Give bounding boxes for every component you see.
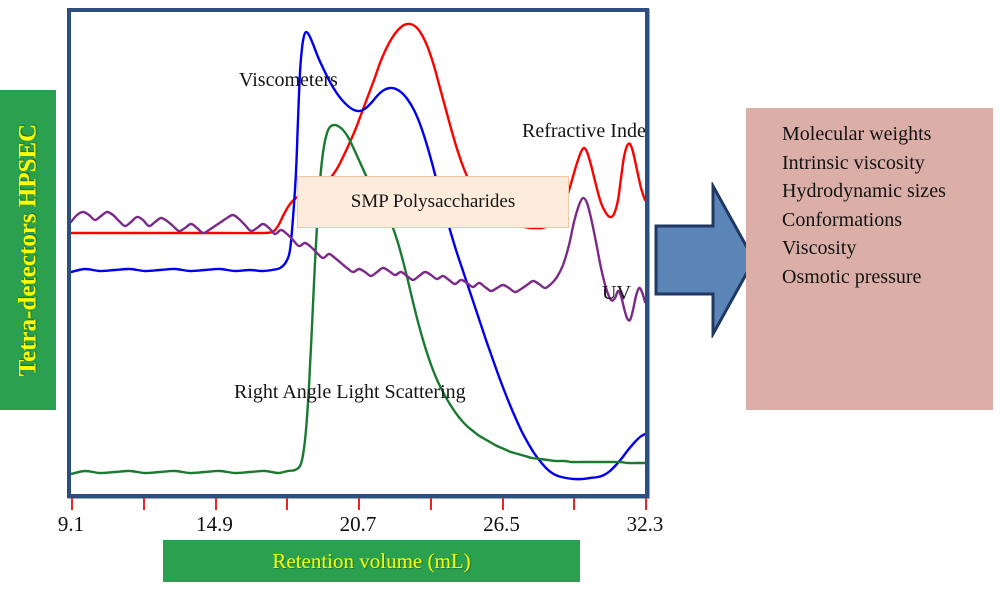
output-item: Viscosity xyxy=(782,234,987,263)
x-axis-tick-label: 9.1 xyxy=(58,512,84,537)
chromatogram-curves xyxy=(71,12,645,494)
viscometers-curve-label: Viscometers xyxy=(239,69,338,92)
retention-volume-banner-label: Retention volume (mL) xyxy=(272,549,470,574)
curve-viscometers xyxy=(71,32,645,479)
refractive-index-curve-label: Refractive Index xyxy=(522,120,645,143)
x-axis-tick xyxy=(71,498,73,510)
output-item: Conformations xyxy=(782,206,987,235)
outputs-panel: Molecular weightsIntrinsic viscosityHydr… xyxy=(746,108,993,410)
x-axis-tick xyxy=(143,498,145,510)
x-axis-tick-labels: 9.114.920.726.532.3 xyxy=(0,512,720,542)
x-axis-tick xyxy=(645,498,647,510)
x-axis-tick xyxy=(573,498,575,510)
plot-area: SMP Polysaccharides Viscometers Refracti… xyxy=(71,12,645,494)
x-axis-tick-label: 26.5 xyxy=(483,512,520,537)
output-item: Osmotic pressure xyxy=(782,263,987,292)
chromatogram-chart: SMP Polysaccharides Viscometers Refracti… xyxy=(67,8,649,498)
output-item: Intrinsic viscosity xyxy=(782,149,987,178)
output-item: Molecular weights xyxy=(782,120,987,149)
x-axis-tick xyxy=(358,498,360,510)
smp-polysaccharides-band: SMP Polysaccharides xyxy=(297,176,569,228)
right-arrow-icon xyxy=(653,182,757,338)
retention-volume-banner: Retention volume (mL) xyxy=(163,540,580,582)
x-axis-tick xyxy=(430,498,432,510)
smp-polysaccharides-label: SMP Polysaccharides xyxy=(298,191,568,213)
x-axis-tick-label: 32.3 xyxy=(627,512,664,537)
x-axis-tick xyxy=(215,498,217,510)
tetra-detectors-banner: Tetra-detectors HPSEC xyxy=(0,90,56,410)
x-axis-tick-label: 14.9 xyxy=(196,512,233,537)
tetra-detectors-banner-label: Tetra-detectors HPSEC xyxy=(14,124,42,377)
x-axis-tick xyxy=(502,498,504,510)
x-axis-tick-label: 20.7 xyxy=(340,512,377,537)
x-axis-tick xyxy=(286,498,288,510)
right-angle-light-scattering-curve-label: Right Angle Light Scattering xyxy=(234,381,466,404)
outputs-list: Molecular weightsIntrinsic viscosityHydr… xyxy=(782,120,987,292)
uv-curve-label: UV xyxy=(602,282,631,305)
output-item: Hydrodynamic sizes xyxy=(782,177,987,206)
